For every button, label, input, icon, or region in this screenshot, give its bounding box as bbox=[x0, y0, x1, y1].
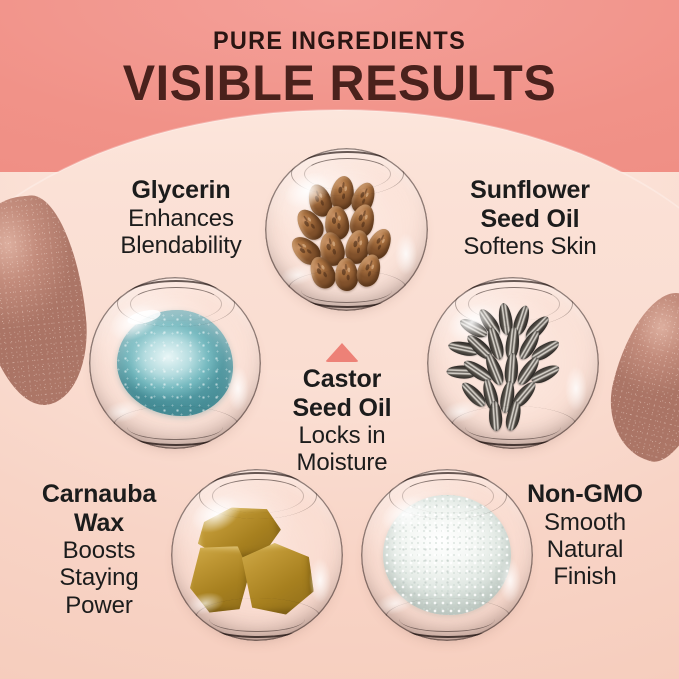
ingredient-name-carnauba-line-1: Carnauba bbox=[14, 480, 184, 509]
ingredient-benefit-carnauba-line-1: Boosts bbox=[14, 537, 184, 564]
page-title: VISIBLE RESULTS bbox=[10, 58, 669, 109]
glass-globe-glycerin bbox=[89, 277, 261, 449]
header-text-block: PURE INGREDIENTS VISIBLE RESULTS bbox=[0, 0, 679, 109]
ingredient-sphere-glycerin bbox=[89, 277, 261, 449]
glass-globe-sunflower bbox=[427, 277, 599, 449]
ingredient-label-non-gmo: Non-GMO Smooth Natural Finish bbox=[505, 480, 665, 591]
eyebrow-heading: PURE INGREDIENTS bbox=[20, 27, 658, 56]
ingredient-name-sunflower-line-1: Sunflower bbox=[440, 176, 620, 205]
glass-highlight-side-carnauba bbox=[309, 558, 331, 603]
glass-rim-bottom-inner-castor bbox=[301, 277, 392, 302]
ingredient-label-castor-seed-oil: Castor Seed Oil Locks in Moisture bbox=[262, 365, 422, 477]
castor-pointer-triangle-icon bbox=[325, 343, 359, 362]
ingredient-benefit-glycerin-line-1: Enhances bbox=[96, 205, 266, 232]
ingredient-sphere-sunflower-seed-oil bbox=[427, 277, 599, 449]
glass-globe-carnauba bbox=[171, 469, 343, 641]
ingredient-name-sunflower-line-2: Seed Oil bbox=[440, 205, 620, 234]
ingredient-name-carnauba-line-2: Wax bbox=[14, 509, 184, 538]
ingredient-label-carnauba-wax: Carnauba Wax Boosts Staying Power bbox=[14, 480, 184, 619]
glass-highlight-side-glycerin bbox=[227, 366, 249, 411]
ingredient-sphere-carnauba-wax bbox=[171, 469, 343, 641]
poster-canvas: PURE INGREDIENTS VISIBLE RESULTS bbox=[0, 0, 679, 679]
ingredient-name-non-gmo: Non-GMO bbox=[505, 480, 665, 509]
ingredient-benefit-castor-line-1: Locks in bbox=[262, 422, 422, 449]
ingredient-benefit-sunflower-line-1: Softens Skin bbox=[440, 233, 620, 260]
ingredient-label-glycerin: Glycerin Enhances Blendability bbox=[96, 176, 266, 259]
ingredient-benefit-castor-line-2: Moisture bbox=[262, 449, 422, 476]
ingredient-benefit-non-gmo-line-3: Finish bbox=[505, 563, 665, 590]
ingredient-benefit-carnauba-line-3: Power bbox=[14, 592, 184, 619]
ingredient-name-glycerin: Glycerin bbox=[96, 176, 266, 205]
ingredient-name-castor-line-1: Castor bbox=[262, 365, 422, 394]
glass-globe-castor bbox=[265, 148, 428, 311]
ingredient-benefit-non-gmo-line-1: Smooth bbox=[505, 509, 665, 536]
ingredient-name-castor-line-2: Seed Oil bbox=[262, 394, 422, 423]
glass-highlight-side-castor bbox=[395, 233, 416, 275]
ingredient-label-sunflower-seed-oil: Sunflower Seed Oil Softens Skin bbox=[440, 176, 620, 260]
ingredient-benefit-glycerin-line-2: Blendability bbox=[96, 232, 266, 259]
ingredient-benefit-non-gmo-line-2: Natural bbox=[505, 536, 665, 563]
glass-highlight-side-sunflower bbox=[565, 366, 587, 411]
ingredient-sphere-castor-seed-oil bbox=[265, 148, 428, 311]
ingredient-benefit-carnauba-line-2: Staying bbox=[14, 564, 184, 591]
